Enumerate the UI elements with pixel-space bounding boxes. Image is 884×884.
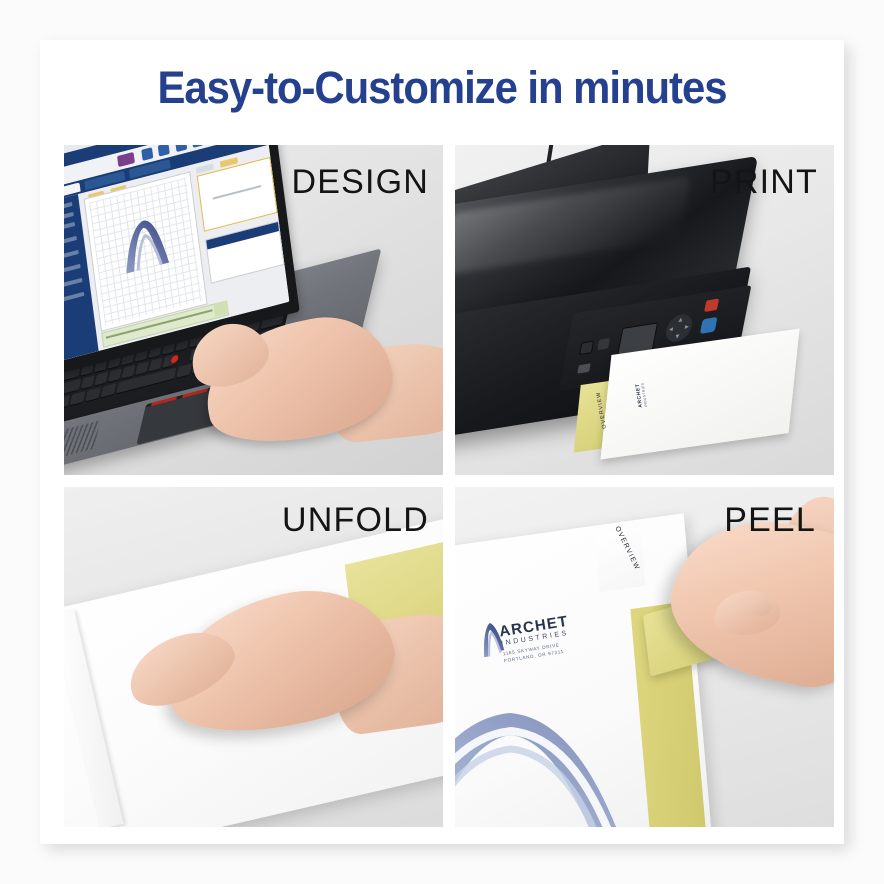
toolbar-color-tool[interactable] (191, 145, 203, 148)
page-title: Easy-to-Customize in minutes (68, 62, 816, 114)
panel-label-unfold: UNFOLD (282, 501, 429, 540)
step-photo-grid: DESIGN (64, 145, 820, 825)
panel-label-peel: PEEL (724, 501, 816, 540)
panel-peel: PEEL OVERVIEW (455, 487, 834, 827)
panel-label-design: DESIGN (291, 163, 429, 202)
toolbar-align-tool[interactable] (175, 145, 187, 152)
panel-design: DESIGN (64, 145, 443, 475)
design-canvas[interactable] (84, 171, 208, 331)
dpad-navigation[interactable] (663, 313, 694, 344)
panel-print: PRINT (455, 145, 834, 475)
preview-panel (196, 149, 287, 316)
toolbar-shape-tool[interactable] (158, 145, 170, 157)
panel-label-print: PRINT (710, 163, 818, 202)
properties-panel[interactable] (205, 221, 284, 284)
wifi-icon (577, 363, 590, 373)
stop-button[interactable] (704, 298, 719, 312)
laptop-vent (64, 420, 101, 464)
toolbar-image-tool[interactable] (141, 147, 153, 161)
start-button[interactable] (700, 317, 718, 334)
archet-mark-icon (476, 620, 507, 658)
preview-text-line (213, 185, 262, 200)
screenshot-stage: Easy-to-Customize in minutes DESIGN (0, 0, 884, 884)
archet-swoosh-graphic (455, 687, 635, 827)
panel-unfold: UNFOLD (64, 487, 443, 827)
product-card: Easy-to-Customize in minutes DESIGN (40, 40, 844, 844)
power-button[interactable] (579, 341, 594, 356)
home-button[interactable] (597, 338, 610, 350)
toolbar-text-tool[interactable] (117, 152, 135, 167)
help-close-button[interactable] (214, 300, 229, 316)
